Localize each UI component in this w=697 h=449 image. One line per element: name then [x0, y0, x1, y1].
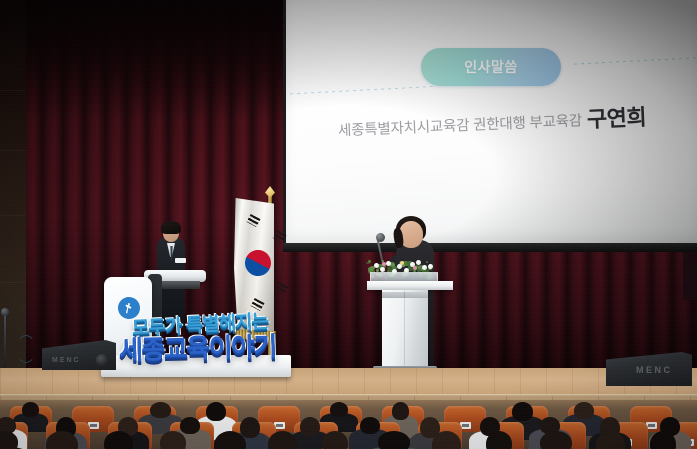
monitor-left-label: MENC: [52, 357, 81, 364]
flower-accent: [382, 262, 386, 266]
flower-accent: [400, 261, 404, 265]
audience-member-head: [180, 417, 200, 434]
audience-member-head: [360, 417, 380, 434]
audience-member-head: [392, 402, 409, 420]
audience-member-head: [240, 417, 260, 438]
audience-area: [0, 400, 697, 449]
audience-member-head: [330, 402, 348, 417]
flower-bloom: [416, 260, 421, 265]
podium-band: [382, 292, 428, 298]
attendant-hair: [161, 221, 181, 234]
audience-member-head: [150, 402, 171, 418]
audience-member-head: [322, 431, 348, 449]
audience-member-head: [160, 431, 186, 449]
audience-member-head: [512, 402, 533, 421]
auditorium-scene: 인사말씀 세종특별자치시교육감 권한대행 부교육감구연희: [0, 0, 697, 449]
monitor-right-label: MENC: [636, 365, 673, 375]
microphone-icon: [376, 233, 385, 242]
flower-accent: [413, 266, 417, 270]
floor-mic-icon: [1, 308, 9, 316]
coiled-cable: [16, 335, 36, 363]
flower-sprig: [426, 261, 428, 263]
flower-bloom: [422, 265, 427, 270]
attendant-name-badge: [175, 258, 186, 263]
podium-top: [367, 281, 453, 290]
sign-text-line2: 세종교육이야기: [100, 325, 296, 367]
flower-bloom: [428, 264, 433, 269]
flower-sprig: [366, 262, 369, 265]
podium-seam: [404, 290, 405, 366]
floor-mic-stand: [4, 312, 6, 368]
audience-member-head: [574, 402, 594, 419]
audience-member-head: [22, 402, 39, 417]
flower-bloom: [374, 263, 379, 268]
flower-bloom: [386, 261, 391, 266]
audience-member-head: [378, 431, 410, 449]
audience-member-head: [486, 431, 512, 449]
audience-member-head: [206, 402, 226, 421]
podium-column: [382, 290, 428, 366]
audience-member-head: [540, 431, 572, 449]
audience-member-head: [104, 431, 133, 449]
audience-member-head: [300, 417, 320, 436]
